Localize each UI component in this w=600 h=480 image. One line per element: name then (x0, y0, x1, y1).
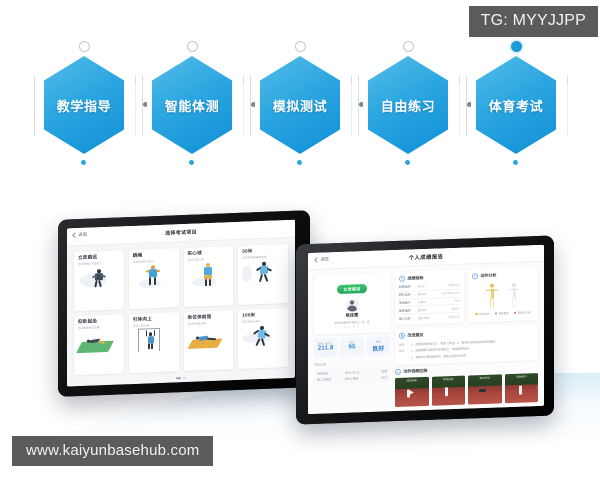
table-row: 重心位移 189.4 cm 标准区间 (399, 313, 460, 322)
stat-box: 得分 95 (340, 337, 363, 356)
tablet-left-screen: 返回 选择考试项目 立定跳远 测试弹跳力与爆发力 (67, 220, 295, 387)
athlete-figure (252, 326, 272, 349)
flow-node-bottom (189, 160, 194, 165)
test-item-card[interactable]: 实心球 测试上肢力量 (184, 246, 234, 307)
stat-value: 良好 (367, 343, 390, 353)
tablet-right: 返回 个人成绩报告 立定跳远 陈佳雯 杭州市 (296, 235, 554, 424)
athlete-figure (256, 262, 274, 286)
cell: 标准区间 (439, 283, 460, 288)
video-thumbnail[interactable]: 蹬地起跳 (432, 375, 466, 405)
flow-step-2[interactable]: 智能体测 (140, 40, 244, 170)
tablet-right-screen: 返回 个人成绩报告 立定跳远 陈佳雯 杭州市 (308, 245, 544, 414)
section-title: 动作分析 (481, 272, 497, 279)
section-header: 成绩指标 (399, 273, 460, 281)
video-caption: 蹬地起跳 (432, 377, 466, 382)
section-title: 成绩指标 (408, 275, 424, 282)
flow-step-5[interactable]: 体育考试 (464, 40, 568, 170)
runner-silhouette (479, 389, 486, 392)
cell: 起跳角度 (399, 285, 415, 290)
flow-node-bottom (405, 160, 410, 165)
cell: 优于同龄 82% (439, 291, 460, 296)
flow-node-top (295, 41, 306, 52)
video-thumbnail-list: 起跳准备 蹬地起跳 腾空阶段 (395, 373, 538, 407)
test-item-grid: 立定跳远 测试弹跳力与爆发力 (67, 238, 295, 379)
card-illustration (238, 258, 288, 305)
test-item-card[interactable]: 引体向上 测试上肢力量 (129, 312, 179, 373)
cell: 落地缓冲 (399, 300, 415, 305)
cell: 成绩 (372, 369, 387, 374)
flow-node-top (187, 41, 198, 52)
video-section: 动作视频回放 起跳准备 蹬地起跳 (395, 364, 538, 406)
cell: 腾空高度 (399, 293, 415, 298)
flow-node-top-active (511, 41, 522, 52)
flow-node-bottom (297, 160, 302, 165)
video-caption: 腾空阶段 (468, 376, 502, 381)
analysis-column: 成绩指标 起跳角度 42.6 ° 标准区间 (395, 267, 538, 407)
device-mockups: 返回 选择考试项目 立定跳远 测试弹跳力与爆发力 (0, 195, 600, 445)
test-item-card[interactable]: 100米 测试速度与耐力 (238, 308, 288, 369)
advice-panel: 改进建议 优势 1、起跳瞬间蹬地充分，爆发力较强；2、腾空阶段身体姿态控制稳定。… (395, 324, 538, 365)
student-column: 立定跳远 陈佳雯 杭州市第四中学初二（3）班 1 7 8 3 (314, 272, 390, 409)
posture-figures (472, 279, 534, 310)
section-title: 改进建议 (408, 332, 424, 339)
history-title: 历史记录 (314, 360, 390, 367)
flow-step-3[interactable]: 模拟测试 (248, 40, 352, 170)
section-title: 动作视频回放 (404, 368, 428, 375)
legend-label: 标准动作 (479, 312, 489, 316)
flow-step-label: 智能体测 (165, 96, 219, 115)
flow-step-4[interactable]: 自由练习 (356, 40, 460, 170)
history-section: 历史记录 测试时间 2024-05-12 成绩 第二次测试 (314, 359, 390, 385)
section-header: 动作分析 (472, 271, 534, 279)
legend-item: 标准动作 (475, 312, 489, 316)
flow-step-1[interactable]: 教学指导 (32, 40, 136, 170)
cell: 摆臂幅度 (399, 308, 415, 313)
student-card: 立定跳远 陈佳雯 杭州市第四中学初二（3）班 1 7 8 3 (314, 272, 390, 335)
card-illustration (129, 326, 179, 373)
play-icon[interactable] (410, 390, 414, 394)
advice-tag: 优势 (399, 342, 408, 347)
cell: 第二次测试 (317, 377, 345, 382)
cell: 良好 (439, 299, 460, 304)
metrics-panel: 成绩指标 起跳角度 42.6 ° 标准区间 (395, 270, 464, 326)
test-item-card[interactable]: 坐位体前屈 测试身体柔韧性 (184, 310, 234, 371)
cell: 需提升 (439, 307, 460, 312)
cell: 0.36 s (418, 300, 436, 305)
advice-tag: 建议 (399, 349, 408, 354)
url-watermark: www.kaiyunbasehub.com (12, 436, 213, 466)
legend-item: 需重点改进 (514, 310, 531, 315)
metrics-table: 起跳角度 42.6 ° 标准区间 腾空高度 48 cm 优于同龄 82% (399, 282, 460, 322)
athlete-figure (145, 265, 163, 290)
stat-value: 95 (340, 344, 363, 351)
flow-node-top (79, 41, 90, 52)
cell: 96 cm (418, 307, 436, 312)
body-figure-side (508, 283, 521, 309)
stat-box: 成绩（厘米） 211.8 (314, 338, 337, 357)
tablet-left: 返回 选择考试项目 立定跳远 测试弹跳力与爆发力 (58, 210, 310, 397)
avatar (346, 298, 359, 311)
runner-silhouette (519, 385, 522, 394)
process-flow: 教学指导 智能体测 模拟测试 自由练习 (0, 40, 600, 170)
video-thumbnail[interactable]: 腾空阶段 (468, 374, 502, 404)
screenshot-canvas: 教学指导 智能体测 模拟测试 自由练习 (0, 0, 600, 480)
target-icon (472, 273, 478, 279)
flow-step-label: 自由练习 (381, 96, 435, 115)
cell: 标准区间 (439, 314, 460, 319)
cell: 92分 (372, 375, 387, 380)
flow-node-top (403, 41, 414, 52)
card-illustration (74, 264, 124, 311)
lightbulb-icon (399, 333, 405, 339)
student-id: 1 7 8 3 (345, 325, 360, 329)
card-illustration (129, 262, 179, 309)
athlete-figure (145, 330, 157, 350)
page-dot-active[interactable] (176, 377, 181, 380)
report-body: 立定跳远 陈佳雯 杭州市第四中学初二（3）班 1 7 8 3 (308, 262, 544, 414)
student-identity: 陈佳雯 杭州市第四中学初二（3）班 1 7 8 3 (318, 297, 386, 330)
video-icon (395, 369, 401, 375)
stat-box: 等级 良好 (367, 336, 390, 355)
posture-legend: 标准动作 轻微偏差 需重点改进 (472, 310, 534, 316)
flow-node-bottom (81, 160, 86, 165)
video-thumbnail[interactable]: 落地缓冲 (505, 373, 539, 403)
table-row: 第二次测试 208.5 厘米 92分 (317, 374, 387, 383)
status-badge: 立定跳远 (337, 284, 366, 294)
personal-report-page: 返回 个人成绩报告 立定跳远 陈佳雯 杭州市 (308, 245, 544, 414)
cell: 48 cm (418, 292, 436, 297)
athlete-figure (201, 263, 219, 288)
cell: 208.5 厘米 (345, 376, 372, 381)
chevron-right-icon[interactable]: › (536, 385, 537, 390)
runner-silhouette (445, 387, 448, 396)
advice-tag (399, 356, 408, 361)
page-title: 选择考试项目 (67, 225, 295, 241)
flow-step-label: 模拟测试 (273, 96, 327, 115)
athlete-figure (90, 269, 110, 292)
flow-step-label: 教学指导 (57, 96, 111, 115)
history-table: 测试时间 2024-05-12 成绩 第二次测试 208.5 厘米 92分 (314, 366, 390, 385)
posture-panel: 动作分析 (468, 267, 538, 323)
info-icon (399, 275, 405, 281)
legend-label: 轻微偏差 (498, 311, 508, 315)
athlete-figure (196, 333, 218, 346)
test-item-card[interactable]: 仰卧起坐 测试腰腹肌肉力量 (74, 314, 124, 375)
score-stats: 成绩（厘米） 211.8 得分 95 等级 良好 (314, 336, 390, 357)
page-title: 个人成绩报告 (308, 249, 544, 265)
page-dot[interactable] (183, 377, 186, 380)
cell: 2024-05-12 (345, 370, 372, 375)
test-item-card[interactable]: 立定跳远 测试弹跳力与爆发力 (74, 250, 124, 311)
athlete-figure (87, 337, 107, 350)
select-test-item-page: 返回 选择考试项目 立定跳远 测试弹跳力与爆发力 (67, 220, 295, 387)
cell: 测试时间 (317, 370, 345, 375)
body-figure-front (486, 283, 499, 309)
flow-node-bottom (513, 160, 518, 165)
student-name: 陈佳雯 (346, 312, 359, 318)
flow-step-label: 体育考试 (489, 96, 543, 115)
cell: 重心位移 (399, 316, 415, 321)
cell: 189.4 cm (418, 315, 436, 320)
card-illustration (238, 322, 288, 369)
stat-value: 211.8 (314, 345, 337, 352)
test-item-card[interactable]: 50米 测试短距离速度素质 (238, 244, 288, 305)
video-caption: 起跳准备 (395, 378, 429, 383)
card-illustration (184, 324, 234, 371)
legend-label: 需重点改进 (518, 310, 531, 314)
legend-item: 轻微偏差 (495, 311, 509, 315)
video-caption: 落地缓冲 (505, 374, 539, 379)
video-thumbnail[interactable]: 起跳准备 (395, 377, 429, 407)
student-school: 杭州市第四中学初二（3）班 (334, 319, 369, 324)
card-illustration (74, 328, 124, 375)
card-illustration (184, 260, 234, 307)
cell: 42.6 ° (418, 284, 436, 289)
test-item-card[interactable]: 跳绳 测试协调性与耐力 (129, 248, 179, 309)
telegram-watermark: TG: MYYJJPP (469, 6, 598, 37)
